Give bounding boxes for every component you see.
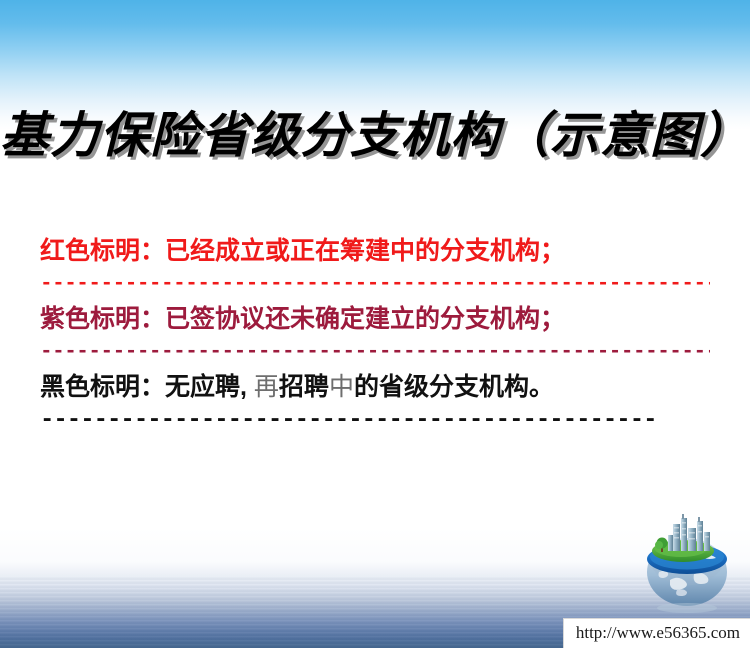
legend-divider-purple: ----------------------------------------… — [40, 338, 710, 368]
legend-block: 红色标明：已经成立或正在筹建中的分支机构； ------------------… — [40, 232, 710, 436]
legend-divider-red: ----------------------------------------… — [40, 270, 710, 300]
legend-text-black-segment-1: 黑色标明：无应聘, — [40, 373, 254, 401]
legend-text-black-segment-2: 招聘 — [279, 373, 329, 401]
legend-row-purple: 紫色标明：已签协议还未确定建立的分支机构； ------------------… — [40, 300, 710, 368]
globe-city-logo-icon — [632, 510, 742, 614]
legend-divider-black: ----------------------------------------… — [40, 406, 710, 436]
watermark-url: http://www.e56365.com — [563, 618, 750, 648]
legend-row-red: 红色标明：已经成立或正在筹建中的分支机构； ------------------… — [40, 232, 710, 300]
slide-canvas: 基力保险省级分支机构（示意图） 红色标明：已经成立或正在筹建中的分支机构； --… — [0, 0, 750, 648]
legend-text-red: 红色标明：已经成立或正在筹建中的分支机构； — [40, 232, 710, 270]
legend-text-black-segment-3: 的省级分支机构。 — [354, 373, 554, 401]
legend-text-black: 黑色标明：无应聘, 再招聘中的省级分支机构。 — [40, 368, 710, 406]
legend-text-black-thin-2: 中 — [329, 373, 354, 401]
legend-text-black-thin-1: 再 — [254, 373, 279, 401]
legend-text-purple: 紫色标明：已签协议还未确定建立的分支机构； — [40, 300, 710, 338]
page-title: 基力保险省级分支机构（示意图） — [0, 96, 750, 167]
legend-row-black: 黑色标明：无应聘, 再招聘中的省级分支机构。 -----------------… — [40, 368, 710, 436]
